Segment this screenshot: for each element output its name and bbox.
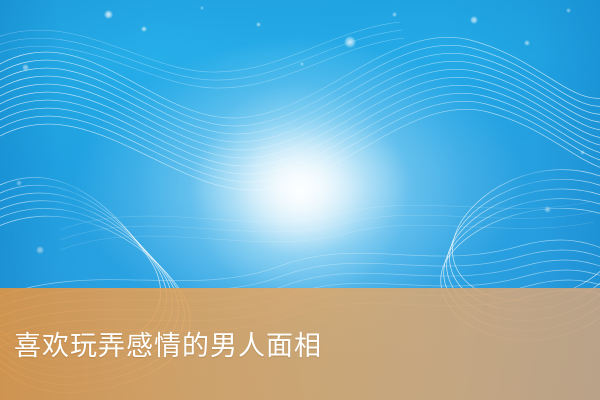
- bokeh-dot: [580, 150, 585, 155]
- bokeh-dot: [141, 26, 147, 32]
- bokeh-dot: [104, 10, 113, 19]
- bokeh-dot: [392, 12, 397, 17]
- bokeh-dot: [544, 206, 551, 213]
- bokeh-dot: [36, 246, 44, 254]
- bokeh-dot: [200, 6, 204, 10]
- bokeh-dot: [566, 8, 571, 13]
- bokeh-dot: [344, 36, 356, 48]
- caption-text: 喜欢玩弄感情的男人面相: [14, 333, 322, 360]
- bokeh-dot: [470, 16, 478, 24]
- bokeh-dot: [524, 40, 530, 46]
- image-canvas: 喜欢玩弄感情的男人面相: [0, 0, 600, 400]
- bokeh-dot: [300, 62, 304, 66]
- bokeh-dot: [16, 180, 22, 186]
- bokeh-dot: [256, 22, 261, 27]
- bokeh-dot: [22, 64, 29, 71]
